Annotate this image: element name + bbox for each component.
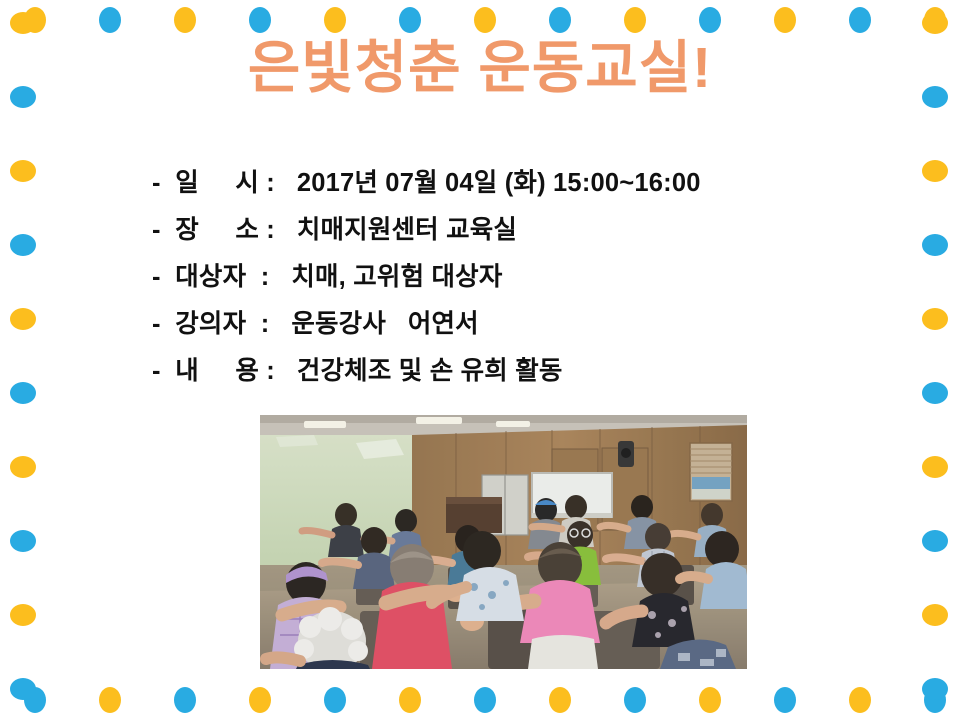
- border-dot-top-2: [174, 7, 196, 33]
- border-dot-bottom-10: [774, 687, 796, 713]
- detail-line-content: - 내 용 : 건강체조 및 손 유희 활동: [152, 348, 852, 395]
- detail-line-place: - 장 소 : 치매지원센터 교육실: [152, 207, 852, 254]
- activity-photo: [260, 415, 747, 669]
- border-dot-right-7: [922, 530, 948, 552]
- border-dot-left-9: [10, 678, 36, 700]
- border-dot-top-10: [774, 7, 796, 33]
- border-dot-left-7: [10, 530, 36, 552]
- details-list: - 일 시 : 2017년 07월 04일 (화) 15:00~16:00 - …: [152, 160, 852, 395]
- border-dot-right-6: [922, 456, 948, 478]
- border-dot-bottom-2: [174, 687, 196, 713]
- border-dot-bottom-3: [249, 687, 271, 713]
- border-dot-right-0: [922, 12, 948, 34]
- border-dot-bottom-6: [474, 687, 496, 713]
- border-dot-bottom-9: [699, 687, 721, 713]
- border-dot-bottom-11: [849, 687, 871, 713]
- detail-line-datetime: - 일 시 : 2017년 07월 04일 (화) 15:00~16:00: [152, 160, 852, 207]
- border-dot-bottom-1: [99, 687, 121, 713]
- border-dot-right-5: [922, 382, 948, 404]
- border-dot-top-5: [399, 7, 421, 33]
- border-dot-top-9: [699, 7, 721, 33]
- border-dot-right-3: [922, 234, 948, 256]
- border-dot-left-2: [10, 160, 36, 182]
- border-dot-bottom-4: [324, 687, 346, 713]
- photo-illustration: [260, 415, 747, 669]
- border-dot-right-4: [922, 308, 948, 330]
- detail-line-target: - 대상자 : 치매, 고위험 대상자: [152, 254, 852, 301]
- border-dot-bottom-7: [549, 687, 571, 713]
- border-dot-left-3: [10, 234, 36, 256]
- border-dot-top-7: [549, 7, 571, 33]
- border-dot-bottom-5: [399, 687, 421, 713]
- border-dot-left-8: [10, 604, 36, 626]
- border-dot-left-6: [10, 456, 36, 478]
- detail-line-instructor: - 강의자 : 운동강사 어연서: [152, 301, 852, 348]
- border-dot-top-3: [249, 7, 271, 33]
- border-dot-top-4: [324, 7, 346, 33]
- border-dot-bottom-8: [624, 687, 646, 713]
- border-dot-top-11: [849, 7, 871, 33]
- border-dot-left-5: [10, 382, 36, 404]
- border-dot-right-8: [922, 604, 948, 626]
- border-dot-left-4: [10, 308, 36, 330]
- page-title: 은빛청춘 운동교실!: [0, 36, 960, 102]
- border-dot-right-9: [922, 678, 948, 700]
- border-dot-top-8: [624, 7, 646, 33]
- border-dot-top-6: [474, 7, 496, 33]
- poster-canvas: 은빛청춘 운동교실! - 일 시 : 2017년 07월 04일 (화) 15:…: [0, 0, 960, 720]
- border-dot-right-2: [922, 160, 948, 182]
- border-dot-top-1: [99, 7, 121, 33]
- border-dot-left-0: [10, 12, 36, 34]
